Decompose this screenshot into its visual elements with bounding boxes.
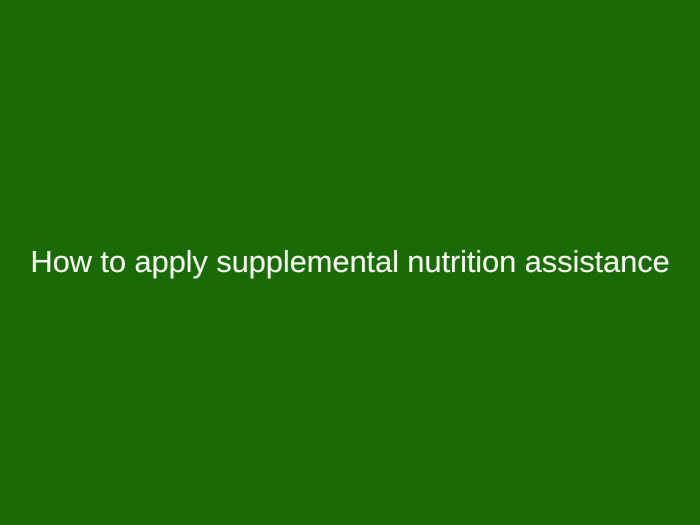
article-header-card: How to apply supplemental nutrition assi… xyxy=(0,0,700,525)
page-title: How to apply supplemental nutrition assi… xyxy=(30,244,669,281)
title-block: How to apply supplemental nutrition assi… xyxy=(0,236,700,288)
